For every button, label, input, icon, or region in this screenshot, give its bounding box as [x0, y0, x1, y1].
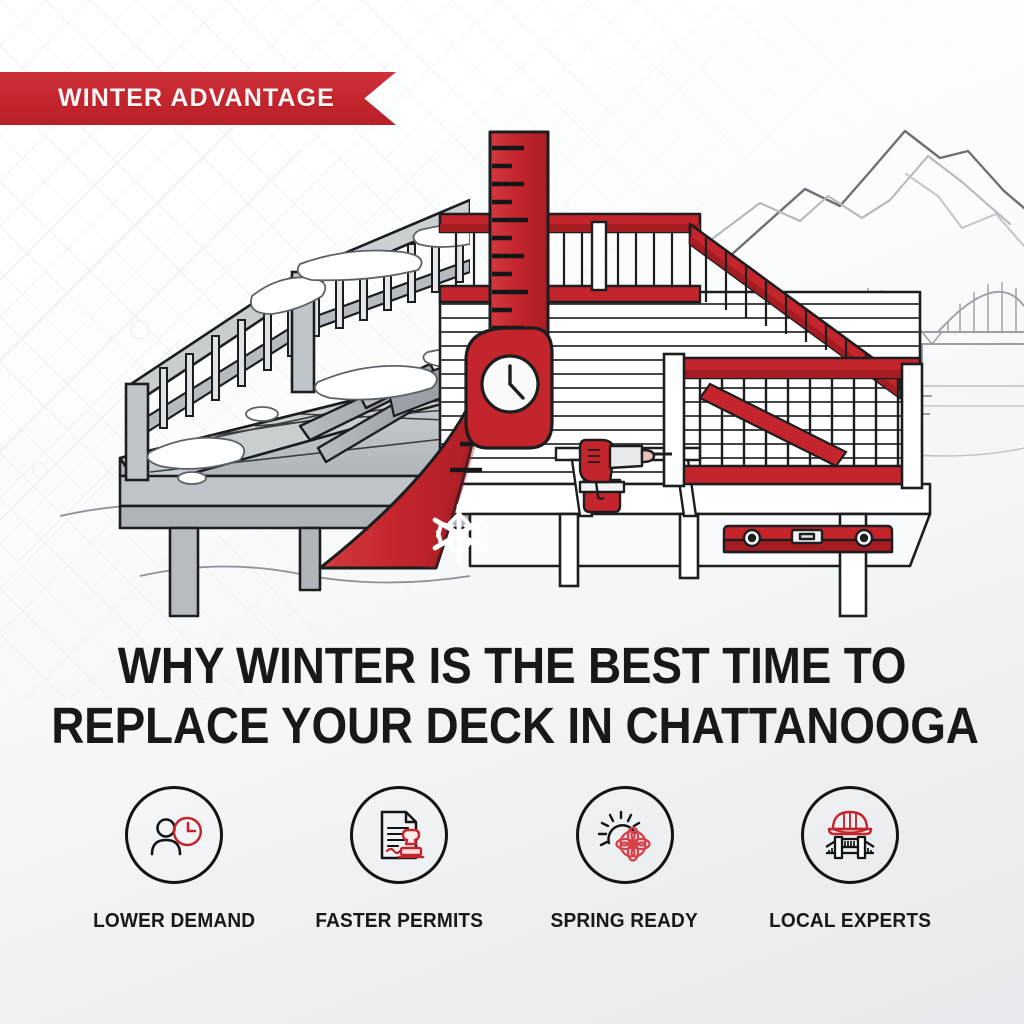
benefit-local-experts: LOCAL EXPERTS	[746, 786, 954, 933]
mountain-range-icon	[700, 131, 1024, 256]
benefit-label: FASTER PERMITS	[315, 909, 483, 933]
benefit-lower-demand: LOWER DEMAND	[70, 786, 278, 933]
new-railing-back	[440, 214, 700, 302]
deck-comparison-illustration	[0, 96, 1024, 626]
person-clock-icon	[143, 804, 205, 866]
benefit-spring-ready: SPRING READY	[521, 786, 729, 933]
headline-line-1: WHY WINTER IS THE BEST TIME TO	[51, 636, 973, 696]
benefit-icon-circle	[576, 786, 674, 884]
benefit-faster-permits: FASTER PERMITS	[295, 786, 503, 933]
benefit-label: LOWER DEMAND	[93, 909, 255, 933]
document-stamp-icon	[368, 804, 430, 866]
spirit-level-icon	[724, 526, 892, 552]
benefit-icon-circle	[125, 786, 223, 884]
flower	[616, 828, 649, 861]
benefits-row: LOWER DEMAND	[70, 786, 954, 933]
page-title: WHY WINTER IS THE BEST TIME TO REPLACE Y…	[51, 636, 973, 755]
benefit-label: SPRING READY	[551, 909, 698, 933]
benefit-icon-circle	[801, 786, 899, 884]
infographic-poster: WINTER ADVANTAGE	[0, 0, 1024, 1024]
tape-housing	[466, 328, 552, 448]
sun-flower-icon	[593, 803, 657, 867]
benefit-icon-circle	[350, 786, 448, 884]
headline-line-2: REPLACE YOUR DECK IN CHATTANOOGA	[51, 696, 973, 756]
hardhat-bridge-icon	[818, 803, 882, 867]
benefit-label: LOCAL EXPERTS	[769, 909, 931, 933]
